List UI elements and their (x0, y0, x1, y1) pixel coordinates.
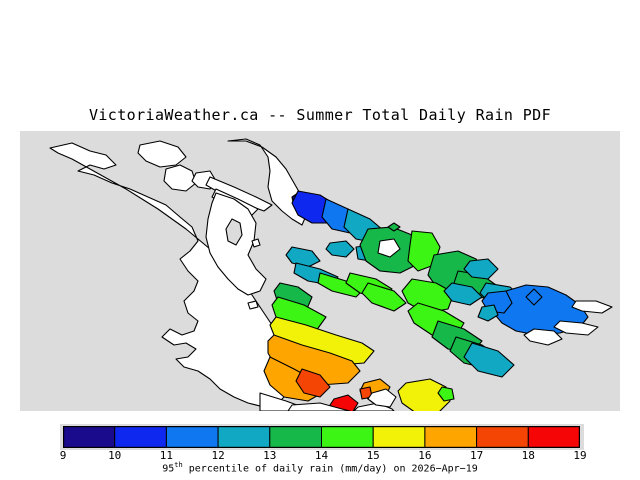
caption-prefix: 95 (162, 463, 174, 474)
colorbar-segments (63, 426, 580, 448)
colorbar-segment-8[interactable] (477, 426, 529, 448)
colorbar-caption: 95th percentile of daily rain (mm/day) o… (0, 461, 640, 474)
colorbar-segment-2[interactable] (166, 426, 218, 448)
land-dot-1 (252, 239, 260, 247)
colorbar-segment-6[interactable] (373, 426, 425, 448)
land-dot-2 (248, 301, 258, 309)
caption-superscript: th (174, 461, 182, 469)
colorbar-segment-1[interactable] (115, 426, 167, 448)
plot-canvas: VictoriaWeather.ca -- Summer Total Daily… (0, 0, 640, 480)
colorbar-segment-9[interactable] (528, 426, 580, 448)
colorbar-segment-3[interactable] (218, 426, 270, 448)
caption-rest: percentile of daily rain (mm/day) on 202… (183, 463, 478, 474)
rainfall-map (20, 131, 620, 411)
colorbar-segment-7[interactable] (425, 426, 477, 448)
colorbar[interactable] (63, 426, 580, 448)
colorbar-segment-0[interactable] (63, 426, 115, 448)
page-title: VictoriaWeather.ca -- Summer Total Daily… (0, 106, 640, 124)
colorbar-segment-4[interactable] (270, 426, 322, 448)
colorbar-segment-5[interactable] (322, 426, 374, 448)
